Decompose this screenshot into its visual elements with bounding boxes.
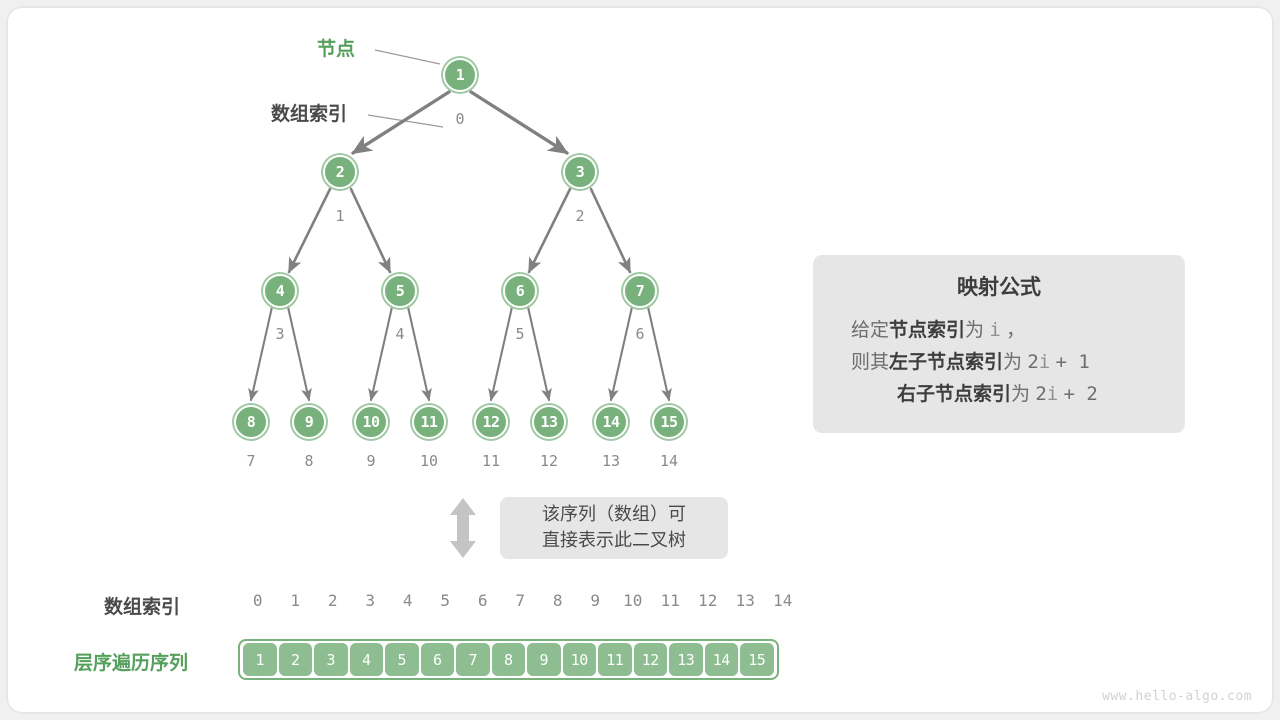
formula-l3-coef: 2 <box>1035 383 1046 405</box>
array-index: 11 <box>652 591 690 610</box>
tree-node-index: 10 <box>409 452 449 470</box>
tree-node[interactable]: 9 <box>292 405 326 439</box>
array-cell[interactable]: 9 <box>527 643 561 676</box>
tree-node-index: 11 <box>471 452 511 470</box>
edge-5-10 <box>371 307 392 400</box>
formula-l2-bold: 左子节点索引 <box>889 352 1003 373</box>
array-cell[interactable]: 13 <box>669 643 703 676</box>
array-cell[interactable]: 15 <box>740 643 774 676</box>
array-index-row: 0 1 2 3 4 5 6 7 8 9 10 11 12 13 14 <box>239 591 802 610</box>
formula-title: 映射公式 <box>831 271 1167 301</box>
tree-node-index: 7 <box>231 452 271 470</box>
edge-7-14 <box>611 307 632 400</box>
edge-3-6 <box>529 189 570 272</box>
edge-4-8 <box>251 307 272 400</box>
tree-node-index: 14 <box>649 452 689 470</box>
array-index-row-label: 数组索引 <box>104 592 180 619</box>
tree-node[interactable]: 6 <box>503 274 537 308</box>
array-index: 5 <box>427 591 465 610</box>
edge-2-5 <box>351 189 390 272</box>
formula-l3-bold: 右子节点索引 <box>897 384 1011 405</box>
double-arrow-icon <box>450 498 476 558</box>
formula-l1-var: i <box>989 319 1000 341</box>
tree-node-index: 1 <box>320 207 360 225</box>
level-order-array: 1 2 3 4 5 6 7 8 9 10 11 12 13 14 15 <box>238 639 779 680</box>
formula-l1-bold: 节点索引 <box>889 320 965 341</box>
array-cell[interactable]: 2 <box>279 643 313 676</box>
array-cell[interactable]: 1 <box>243 643 277 676</box>
array-index: 9 <box>577 591 615 610</box>
array-index: 7 <box>502 591 540 610</box>
array-index: 1 <box>277 591 315 610</box>
tree-node-index: 12 <box>529 452 569 470</box>
edge-5-11 <box>408 307 429 400</box>
formula-l3-mid: 为 <box>1011 384 1030 405</box>
edge-4-9 <box>288 307 309 400</box>
tree-node-index: 0 <box>440 110 480 128</box>
array-index: 10 <box>614 591 652 610</box>
sequence-note-box: 该序列（数组）可 直接表示此二叉树 <box>500 497 728 559</box>
formula-l2-tail: + 1 <box>1056 351 1090 373</box>
tree-node-index: 5 <box>500 325 540 343</box>
array-cell[interactable]: 8 <box>492 643 526 676</box>
tree-node-index: 2 <box>560 207 600 225</box>
array-cell[interactable]: 10 <box>563 643 597 676</box>
annotation-leader-lines <box>368 50 443 127</box>
formula-l1-post: ， <box>1006 320 1025 341</box>
annotation-node-label: 节点 <box>317 34 355 61</box>
array-index: 12 <box>689 591 727 610</box>
array-cell[interactable]: 12 <box>634 643 668 676</box>
array-index: 13 <box>727 591 765 610</box>
screenshot-root: 节点 数组索引 1 0 2 1 3 2 4 3 5 4 6 5 7 6 8 7 … <box>0 0 1280 720</box>
tree-node[interactable]: 12 <box>474 405 508 439</box>
array-index: 6 <box>464 591 502 610</box>
note-line-1: 该序列（数组）可 <box>542 502 686 528</box>
array-index: 0 <box>239 591 277 610</box>
tree-node-index: 13 <box>591 452 631 470</box>
edge-1-3 <box>471 92 567 153</box>
tree-node[interactable]: 14 <box>594 405 628 439</box>
formula-line-3: 右子节点索引为 2i + 2 <box>831 379 1167 411</box>
formula-l1-mid: 为 <box>965 320 984 341</box>
note-line-2: 直接表示此二叉树 <box>542 528 686 554</box>
array-cell[interactable]: 7 <box>456 643 490 676</box>
tree-node[interactable]: 15 <box>652 405 686 439</box>
tree-node[interactable]: 4 <box>263 274 297 308</box>
edge-7-15 <box>648 307 669 400</box>
formula-l2-pre: 则其 <box>851 352 889 373</box>
tree-node[interactable]: 1 <box>443 58 477 92</box>
tree-node-index: 9 <box>351 452 391 470</box>
tree-node[interactable]: 7 <box>623 274 657 308</box>
formula-l2-mid: 为 <box>1003 352 1022 373</box>
formula-l2-var: i <box>1039 351 1050 373</box>
tree-node[interactable]: 13 <box>532 405 566 439</box>
mapping-formula-box: 映射公式 给定节点索引为 i ， 则其左子节点索引为 2i + 1 右子节点索引… <box>813 255 1185 433</box>
formula-l3-tail: + 2 <box>1064 383 1098 405</box>
array-cell[interactable]: 6 <box>421 643 455 676</box>
tree-node[interactable]: 10 <box>354 405 388 439</box>
tree-node[interactable]: 5 <box>383 274 417 308</box>
leader-line-node <box>375 50 440 64</box>
formula-l3-var: i <box>1047 383 1058 405</box>
array-cell[interactable]: 3 <box>314 643 348 676</box>
formula-line-2: 则其左子节点索引为 2i + 1 <box>831 347 1167 379</box>
watermark: www.hello-algo.com <box>1102 689 1252 704</box>
array-cell[interactable]: 14 <box>705 643 739 676</box>
array-cell[interactable]: 4 <box>350 643 384 676</box>
tree-node-index: 3 <box>260 325 300 343</box>
array-cell[interactable]: 5 <box>385 643 419 676</box>
tree-node-index: 4 <box>380 325 420 343</box>
tree-node[interactable]: 11 <box>412 405 446 439</box>
tree-node[interactable]: 2 <box>323 155 357 189</box>
tree-edges <box>251 92 669 400</box>
formula-line-1: 给定节点索引为 i ， <box>831 315 1167 347</box>
annotation-array-index-label: 数组索引 <box>271 99 347 126</box>
formula-l1-pre: 给定 <box>851 320 889 341</box>
tree-node-index: 8 <box>289 452 329 470</box>
array-index: 2 <box>314 591 352 610</box>
edge-2-4 <box>289 189 330 272</box>
array-index: 14 <box>764 591 802 610</box>
array-index: 3 <box>352 591 390 610</box>
array-index: 4 <box>389 591 427 610</box>
formula-l2-coef: 2 <box>1027 351 1038 373</box>
tree-node[interactable]: 3 <box>563 155 597 189</box>
edge-1-2 <box>353 92 449 153</box>
edge-6-13 <box>528 307 549 400</box>
tree-node[interactable]: 8 <box>234 405 268 439</box>
tree-node-index: 6 <box>620 325 660 343</box>
level-order-sequence-label: 层序遍历序列 <box>74 648 188 675</box>
array-index: 8 <box>539 591 577 610</box>
edge-3-7 <box>591 189 630 272</box>
edge-6-12 <box>491 307 512 400</box>
array-cell[interactable]: 11 <box>598 643 632 676</box>
